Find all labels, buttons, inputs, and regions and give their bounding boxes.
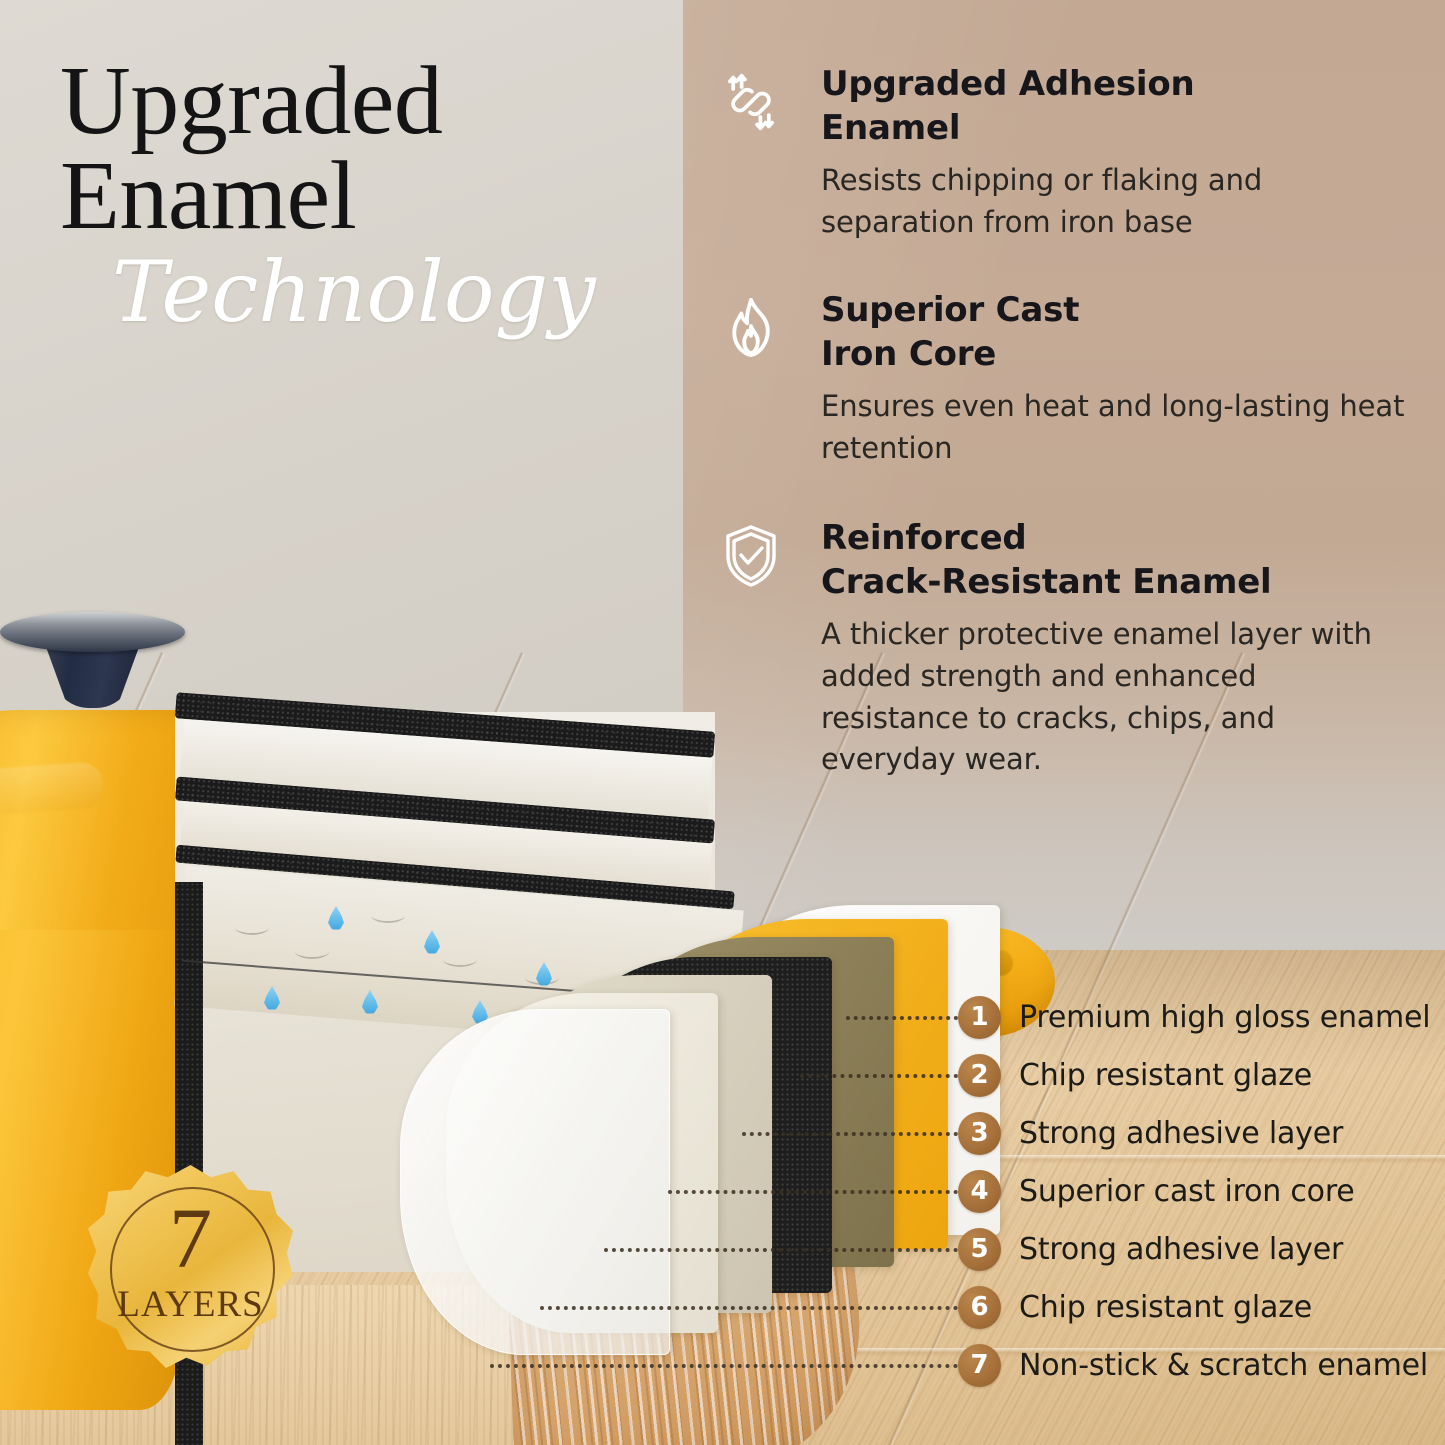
feature-title-line-2: Enamel: [821, 106, 1381, 150]
badge-label: LAYERS: [88, 1283, 293, 1326]
layer-number-badge: 4: [958, 1170, 1001, 1213]
chain-link-arrows-icon: [717, 68, 785, 136]
badge-number: 7: [88, 1195, 293, 1281]
title-script-word: Technology: [112, 250, 660, 334]
layer-number-badge: 7: [958, 1344, 1001, 1387]
layer-label: Strong adhesive layer: [1019, 1232, 1343, 1267]
layer-number-badge: 3: [958, 1112, 1001, 1155]
feature-description: Ensures even heat and long-lasting heat …: [821, 386, 1413, 470]
layer-label: Premium high gloss enamel: [1019, 1000, 1430, 1035]
feature-description: Resists chipping or flaking and separati…: [821, 160, 1413, 244]
feature-item-cast-iron: Superior Cast Iron Core Ensures even hea…: [713, 288, 1413, 470]
layer-label: Strong adhesive layer: [1019, 1116, 1343, 1151]
infographic-canvas: Upgraded Enamel Technology Upgraded Adhe…: [0, 0, 1445, 1445]
pot-lid-knob: [0, 612, 185, 704]
layer-number-badge: 6: [958, 1286, 1001, 1329]
feature-title-line-1: Superior Cast: [821, 288, 1381, 332]
feature-title-line-1: Upgraded Adhesion: [821, 62, 1381, 106]
layer-label: Superior cast iron core: [1019, 1174, 1355, 1209]
seven-layers-badge: 7 LAYERS: [88, 1165, 293, 1375]
layer-label: Chip resistant glaze: [1019, 1058, 1312, 1093]
exploded-layer-fan: [400, 905, 1020, 1395]
layer-label: Non-stick & scratch enamel: [1019, 1348, 1428, 1383]
flame-icon: [717, 294, 785, 362]
layer-number-badge: 1: [958, 996, 1001, 1039]
feature-title-line-1: Reinforced: [821, 516, 1381, 560]
title-line-1: Upgraded: [60, 54, 660, 149]
layer-label: Chip resistant glaze: [1019, 1290, 1312, 1325]
list-item: 1 Premium high gloss enamel: [958, 988, 1445, 1046]
feature-title-line-2: Crack-Resistant Enamel: [821, 560, 1381, 604]
shield-check-icon: [717, 522, 785, 590]
page-title: Upgraded Enamel Technology: [60, 54, 660, 334]
layer-number-badge: 5: [958, 1228, 1001, 1271]
feature-item-adhesion: Upgraded Adhesion Enamel Resists chippin…: [713, 62, 1413, 244]
list-item: 2 Chip resistant glaze: [958, 1046, 1445, 1104]
list-item: 6 Chip resistant glaze: [958, 1278, 1445, 1336]
layer-legend-list: 1 Premium high gloss enamel 2 Chip resis…: [958, 988, 1445, 1394]
list-item: 5 Strong adhesive layer: [958, 1220, 1445, 1278]
list-item: 7 Non-stick & scratch enamel: [958, 1336, 1445, 1394]
feature-description: A thicker protective enamel layer with a…: [821, 614, 1413, 781]
list-item: 3 Strong adhesive layer: [958, 1104, 1445, 1162]
feature-title-line-2: Iron Core: [821, 332, 1381, 376]
list-item: 4 Superior cast iron core: [958, 1162, 1445, 1220]
title-line-2: Enamel: [60, 149, 660, 244]
fan-layer-7-non-stick-scratch-enamel: [400, 1009, 670, 1355]
layer-number-badge: 2: [958, 1054, 1001, 1097]
